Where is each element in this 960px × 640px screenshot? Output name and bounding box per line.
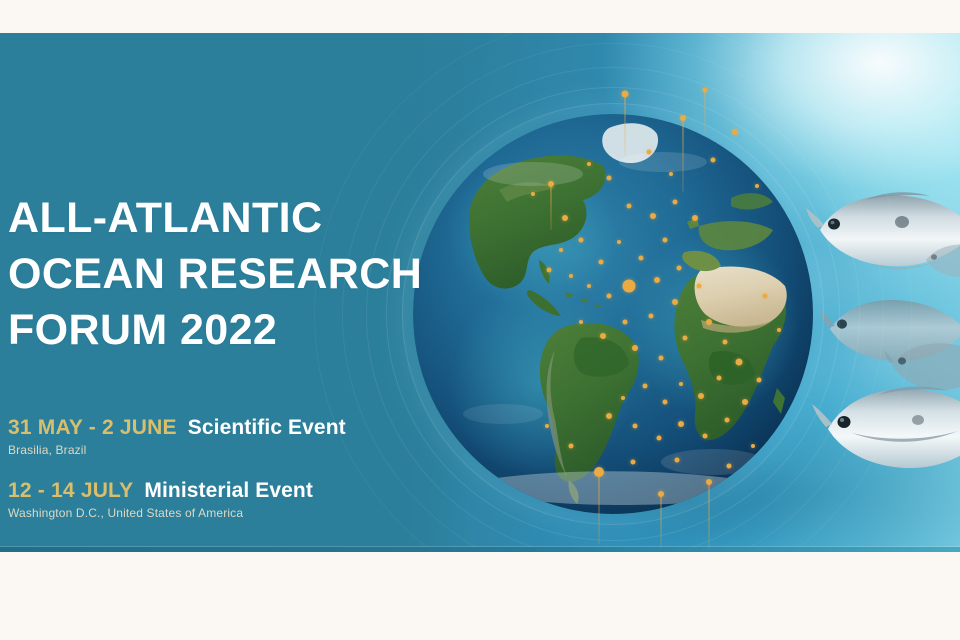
event-list: 31 MAY - 2 JUNE Scientific Event Brasili… [8,416,448,520]
event-title: Scientific Event [188,416,346,440]
event-headline: 31 MAY - 2 JUNE Scientific Event [8,416,448,440]
event-item-scientific: 31 MAY - 2 JUNE Scientific Event Brasili… [8,416,448,457]
forum-banner: ALL-ATLANTIC OCEAN RESEARCH FORUM 2022 3… [0,33,960,552]
globe-graphic [413,90,813,538]
event-location: Washington D.C., United States of Americ… [8,506,448,520]
poster-canvas: ALL-ATLANTIC OCEAN RESEARCH FORUM 2022 3… [0,0,960,640]
earth-globe-icon [413,114,813,514]
event-date: 12 - 14 JULY [8,479,133,503]
fish-icon [922,238,960,284]
page-title: ALL-ATLANTIC OCEAN RESEARCH FORUM 2022 [8,190,438,358]
event-location: Brasilia, Brazil [8,443,448,457]
event-title: Ministerial Event [144,479,313,503]
event-item-ministerial: 12 - 14 JULY Ministerial Event Washingto… [8,479,448,520]
banner-base-rule [0,547,960,552]
event-date: 31 MAY - 2 JUNE [8,416,177,440]
event-headline: 12 - 14 JULY Ministerial Event [8,479,448,503]
